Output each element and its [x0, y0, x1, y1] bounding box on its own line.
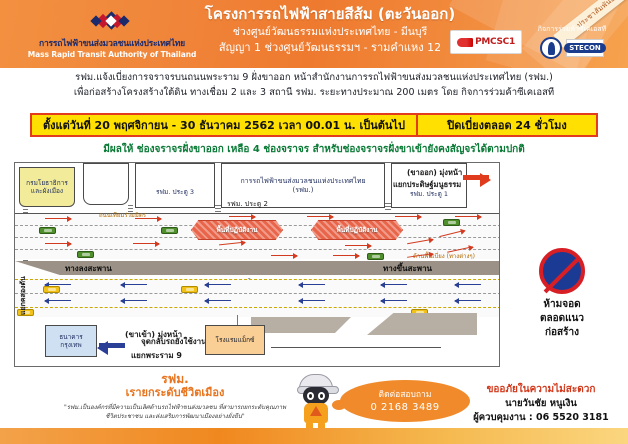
fence-icon — [215, 203, 221, 212]
stecon-logo: STECON — [566, 39, 604, 57]
traffic-arrow-inbound — [121, 300, 147, 301]
traffic-arrow-outbound — [307, 216, 333, 217]
mrta-gate-2-label: รฟม. ประตู 2 — [227, 199, 268, 210]
supervisor-name: นายวันชัย หนูเงิน — [460, 397, 622, 411]
traffic-arrow-inbound — [299, 300, 325, 301]
stecon-label: STECON — [564, 43, 606, 53]
mascot-face — [303, 387, 329, 404]
center-yellow-line — [15, 279, 500, 280]
building-label-line1: กรมโยธาธิการ — [26, 179, 68, 188]
no-parking-line2: ตลอดแนว — [508, 312, 616, 326]
traffic-announcement-poster: ประชาสัมพันธ์ การรถไฟฟ้าขนส่งมวลชนแห่งปร… — [0, 0, 628, 444]
supervisor-role: ผู้ควบคุมงาน : 06 5520 3181 — [460, 411, 622, 425]
traffic-arrow-outbound — [133, 243, 159, 244]
brand-slogan: เรายกระดับชีวิตเมือง — [60, 386, 290, 400]
footer-gradient-bar — [0, 428, 628, 444]
closure-period-banner: ตั้งแต่วันที่ 20 พฤศจิกายน - 30 ธันวาคม … — [30, 113, 598, 137]
contact-label: ติดต่อสอบถาม — [379, 389, 432, 401]
brand-block: รฟม. เรายกระดับชีวิตเมือง "รฟม.เป็นองค์ก… — [60, 372, 290, 421]
hotel-label: โรงแรมแม็กซ์ — [216, 336, 255, 345]
entry-direction-arrow-icon — [99, 343, 125, 348]
exit-direction-label-line2: แยกประดิษฐ์มนูธรรม — [393, 179, 461, 191]
lane-edge-line — [15, 213, 500, 214]
building-hotel-amex: โรงแรมแม็กซ์ — [205, 325, 265, 355]
car-icon — [77, 251, 94, 258]
traffic-arrow-inbound — [45, 300, 71, 301]
pmcsc1-logo: PMCSC1 — [450, 30, 522, 54]
project-title-line1: โครงการรถไฟฟ้าสายสีส้ม (ตะวันออก) — [190, 4, 470, 24]
traffic-arrow-inbound — [205, 284, 231, 285]
building-dept-public-works: กรมโยธาธิการ และผังเมือง — [19, 167, 75, 207]
traffic-arrow-inbound — [121, 284, 147, 285]
side-road-label-2: ด้านพื้นเบี่ยง (ทางต่างๆ) — [413, 251, 475, 261]
lane-divider — [15, 249, 500, 250]
traffic-arrow-outbound — [455, 216, 481, 217]
entry-direction-label-line1: (ขาเข้า) มุ่งหน้า — [125, 328, 182, 341]
project-title-block: โครงการรถไฟฟ้าสายสีส้ม (ตะวันออก) ช่วงศู… — [190, 4, 470, 56]
mrta-office-label-line1: การรถไฟฟ้าขนส่งมวลชนแห่งประเทศไทย — [240, 177, 365, 186]
pmcsc1-label: PMCSC1 — [475, 37, 515, 47]
traffic-arrow-outbound — [45, 218, 71, 219]
train-icon — [457, 38, 473, 47]
traffic-arrow-inbound — [205, 300, 231, 301]
mrta-name-th: การรถไฟฟ้าขนส่งมวลชนแห่งประเทศไทย — [22, 36, 202, 50]
building-unlabeled-1 — [83, 163, 129, 205]
no-parking-line1: ห้ามจอด — [508, 298, 616, 312]
bridge-up-label: ทางขึ้นสะพาน — [383, 262, 432, 275]
entry-direction-label-line2: แยกพระราม 9 — [131, 349, 182, 362]
joint-venture-caption: กิจการร่วมค้าซีเคเอสที — [530, 24, 614, 35]
edge-yellow-line — [15, 307, 500, 308]
mrta-office-label-line2: (รฟม.) — [292, 186, 313, 195]
joint-venture-badges: STECON — [530, 37, 614, 59]
traffic-arrow-inbound — [381, 300, 407, 301]
traffic-arrow-inbound — [455, 284, 481, 285]
car-icon — [161, 227, 178, 234]
project-title-line2: ช่วงศูนย์วัฒนธรรมแห่งประเทศไทย - มีนบุรี — [190, 24, 470, 40]
lane-impact-note: มีผลให้ ช่องจราจรฝั่งขาออก เหลือ 4 ช่องจ… — [14, 142, 614, 157]
closure-period-text: ตั้งแต่วันที่ 20 พฤศจิกายน - 30 ธันวาคม … — [32, 115, 418, 135]
no-parking-sign-icon — [539, 248, 585, 294]
no-parking-notice: ห้ามจอด ตลอดแนว ก่อสร้าง — [508, 248, 616, 340]
work-zone-1: พื้นที่ปฏิบัติงาน — [191, 220, 283, 240]
traffic-arrow-outbound — [345, 245, 371, 246]
joint-venture-logos: กิจการร่วมค้าซีเคเอสที STECON — [530, 24, 614, 59]
contact-bubble: ติดต่อสอบถาม 0 2168 3489 — [340, 380, 470, 422]
notice-line-1: รฟม.แจ้งเบี่ยงการจราจรบนถนนพระราม 9 ฝั่ง… — [14, 70, 614, 85]
mrta-gate-3-label: รฟม. ประตู 3 — [156, 188, 194, 197]
brand-name: รฟม. — [60, 372, 290, 386]
traffic-arrow-inbound — [455, 300, 481, 301]
traffic-arrow-inbound — [381, 284, 407, 285]
median-bridge-band — [175, 261, 500, 275]
apology-text: ขออภัยในความไม่สะดวก — [460, 382, 622, 397]
mrta-logo: การรถไฟฟ้าขนส่งมวลชนแห่งประเทศไทย Mass R… — [22, 8, 202, 59]
mascot-eye-right — [318, 392, 325, 400]
notice-line-2: เพื่อก่อสร้างโครงสร้างใต้ดิน ทางเชื่อม 2… — [14, 85, 614, 100]
fence-icon — [385, 201, 391, 210]
ch-karnchang-logo-icon — [540, 37, 562, 59]
traffic-arrow-inbound — [299, 284, 325, 285]
car-icon — [43, 286, 60, 293]
exit-direction-label-line1: (ขาออก) มุ่งหน้า — [407, 167, 462, 179]
traffic-arrow-outbound — [271, 255, 297, 256]
apology-block: ขออภัยในความไม่สะดวก นายวันชัย หนูเงิน ผ… — [460, 382, 622, 425]
mrta-name-en: Mass Rapid Transit Authority of Thailand — [22, 50, 202, 59]
car-icon — [181, 286, 198, 293]
mascot-body — [304, 403, 328, 423]
notice-text-block: รฟม.แจ้งเบี่ยงการจราจรบนถนนพระราม 9 ฝั่ง… — [14, 70, 614, 100]
bridge-down-label: ทางลงสะพาน — [65, 262, 112, 275]
traffic-arrow-outbound — [229, 216, 255, 217]
closure-duration-text: ปิดเบี่ยงตลอด 24 ชั่วโมง — [418, 115, 596, 135]
car-icon — [367, 253, 384, 260]
junction-vertical-label: แยกคลองตัน — [17, 259, 28, 315]
engineer-mascot-icon — [295, 374, 337, 434]
traffic-diversion-map: กรมโยธาธิการ และผังเมือง รฟม. ประตู 3 กา… — [14, 162, 500, 367]
building-label-line2: และผังเมือง — [31, 187, 63, 196]
work-zone-2: พื้นที่ปฏิบัติงาน — [311, 220, 403, 240]
bank-label-line1: ธนาคาร — [59, 333, 83, 342]
mascot-eye-left — [307, 392, 314, 400]
car-icon — [443, 219, 460, 226]
no-parking-line3: ก่อสร้าง — [508, 326, 616, 340]
traffic-arrow-outbound — [395, 216, 421, 217]
exit-direction-arrow-icon — [463, 175, 489, 180]
vision-statement: "รฟม.เป็นองค์กรที่มีความเป็นเลิศด้านรถไฟ… — [60, 403, 290, 421]
island-wedge — [251, 317, 351, 333]
building-mrta-gate-3: รฟม. ประตู 3 — [135, 163, 215, 208]
lane-divider — [15, 293, 500, 294]
mrta-emblem-icon — [89, 8, 135, 34]
mrta-gate-1-label: รฟม. ประตู 1 — [410, 190, 448, 199]
traffic-arrow-outbound — [45, 243, 71, 244]
building-bangkok-bank: ธนาคาร กรุงเทพ — [45, 325, 97, 357]
traffic-arrow-outbound — [333, 255, 359, 256]
car-icon — [39, 227, 56, 234]
project-title-line3: สัญญา 1 ช่วงศูนย์วัฒนธรรมฯ - รามคำแหง 12 — [190, 40, 470, 56]
traffic-arrow-inbound — [45, 284, 71, 285]
bank-label-line2: กรุงเทพ — [60, 341, 81, 350]
traffic-arrow-outbound — [135, 218, 161, 219]
uturn-leader-line — [271, 347, 441, 348]
contact-phone: 0 2168 3489 — [370, 401, 439, 414]
poster-header: ประชาสัมพันธ์ การรถไฟฟ้าขนส่งมวลชนแห่งปร… — [0, 0, 628, 68]
